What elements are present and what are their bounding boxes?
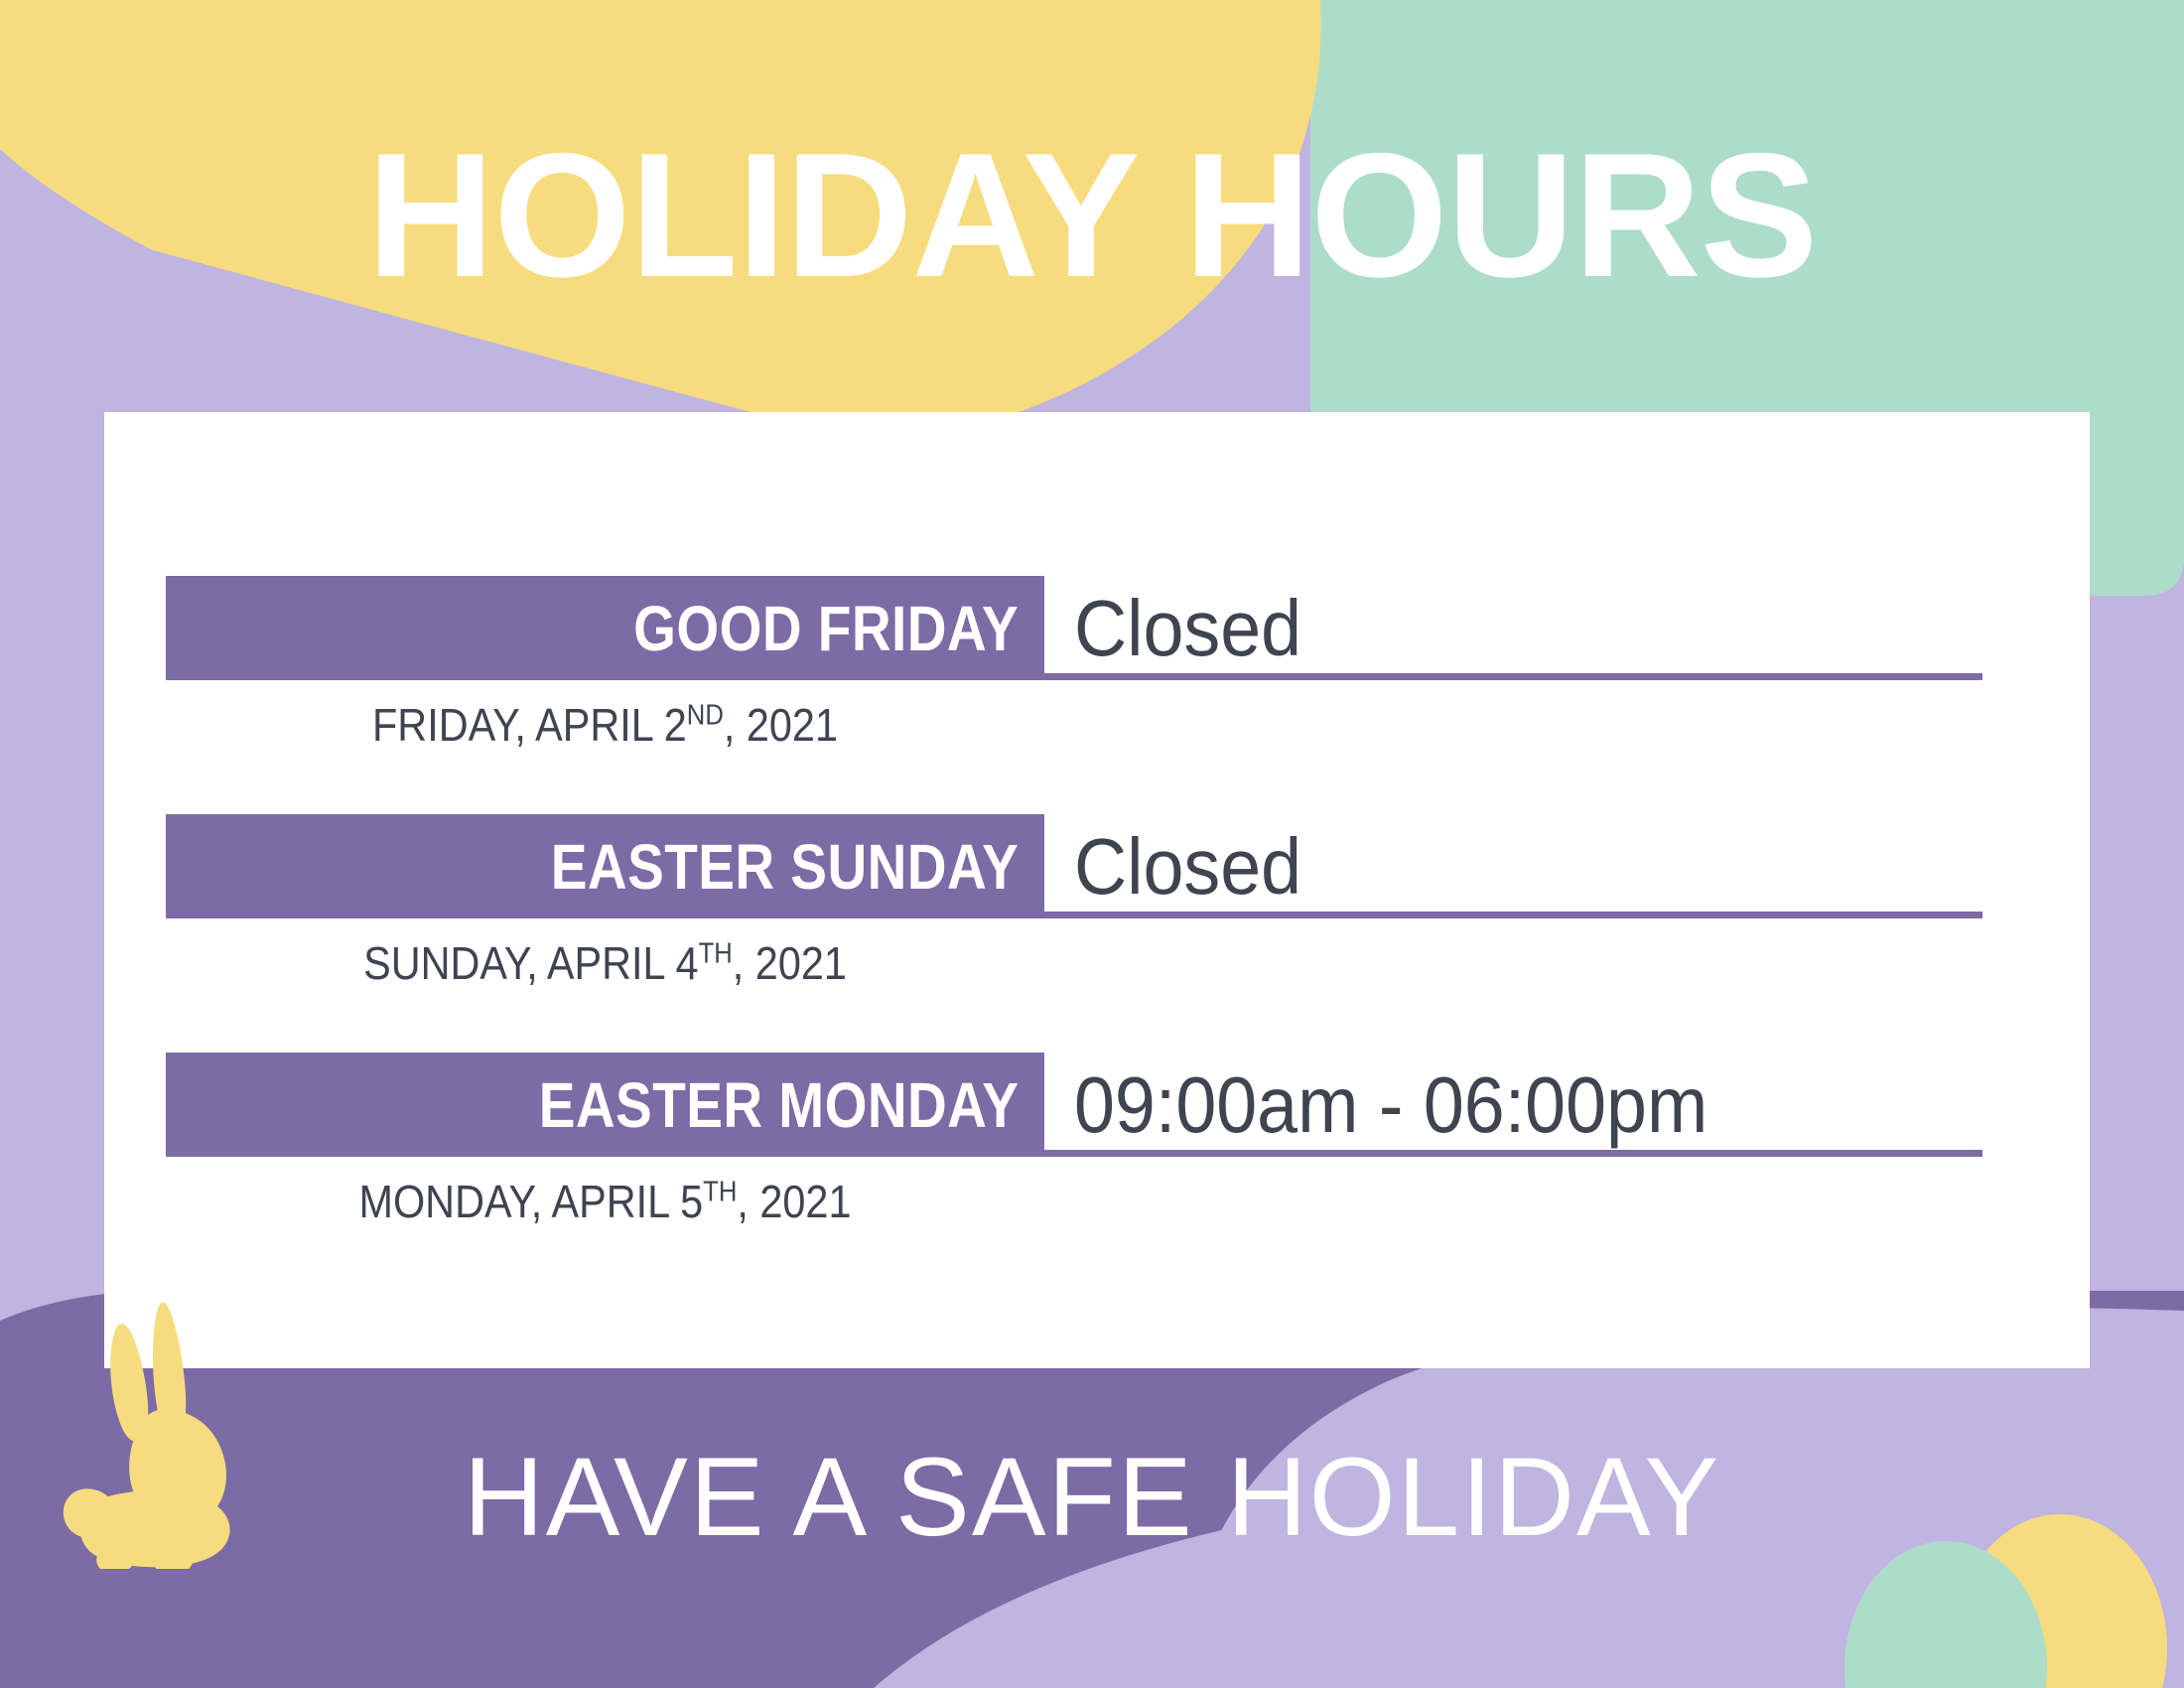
hours-underline bbox=[1044, 912, 1982, 918]
holiday-date-prefix: FRIDAY, APRIL 2 bbox=[372, 699, 687, 751]
holiday-date-label: FRIDAY, APRIL 2ND, 2021 bbox=[209, 702, 1001, 748]
holiday-hours-cell: Closed bbox=[1044, 814, 2032, 918]
schedule-card: GOOD FRIDAY Closed FRIDAY, APRIL 2ND, 20… bbox=[104, 412, 2090, 1368]
schedule-rows: GOOD FRIDAY Closed FRIDAY, APRIL 2ND, 20… bbox=[166, 576, 2032, 1291]
holiday-hours-value: Closed bbox=[1074, 589, 1301, 668]
hours-underline bbox=[1044, 673, 1982, 680]
table-row: GOOD FRIDAY Closed FRIDAY, APRIL 2ND, 20… bbox=[166, 576, 2032, 814]
hours-underline bbox=[1044, 1150, 1982, 1157]
table-row: EASTER MONDAY 09:00am - 06:00pm MONDAY, … bbox=[166, 1053, 2032, 1291]
schedule-row-main: GOOD FRIDAY Closed bbox=[166, 576, 2032, 680]
holiday-name-label: EASTER MONDAY bbox=[538, 1073, 1019, 1137]
holiday-hours-value: Closed bbox=[1074, 827, 1301, 907]
holiday-hours-poster: HOLIDAY HOURS GOOD FRIDAY Closed FRIDAY,… bbox=[0, 0, 2184, 1688]
holiday-name-badge: GOOD FRIDAY bbox=[166, 576, 1044, 680]
holiday-name-badge: EASTER MONDAY bbox=[166, 1053, 1044, 1157]
table-row: EASTER SUNDAY Closed SUNDAY, APRIL 4TH, … bbox=[166, 814, 2032, 1053]
holiday-hours-cell: 09:00am - 06:00pm bbox=[1044, 1053, 2032, 1157]
holiday-hours-value: 09:00am - 06:00pm bbox=[1074, 1065, 1707, 1145]
footer-message: HAVE A SAFE HOLIDAY bbox=[0, 1442, 2184, 1553]
holiday-date-year: , 2021 bbox=[733, 937, 847, 989]
holiday-date-ordinal: TH bbox=[699, 938, 733, 970]
holiday-date-ordinal: TH bbox=[703, 1177, 737, 1208]
holiday-date-label: MONDAY, APRIL 5TH, 2021 bbox=[209, 1179, 1001, 1224]
holiday-name-badge: EASTER SUNDAY bbox=[166, 814, 1044, 918]
holiday-name-label: EASTER SUNDAY bbox=[551, 835, 1019, 899]
holiday-name-label: GOOD FRIDAY bbox=[633, 597, 1019, 660]
schedule-row-main: EASTER SUNDAY Closed bbox=[166, 814, 2032, 918]
holiday-date-prefix: SUNDAY, APRIL 4 bbox=[363, 937, 699, 989]
holiday-hours-cell: Closed bbox=[1044, 576, 2032, 680]
holiday-date-prefix: MONDAY, APRIL 5 bbox=[358, 1176, 703, 1227]
page-title: HOLIDAY HOURS bbox=[0, 127, 2184, 304]
holiday-date-year: , 2021 bbox=[737, 1176, 851, 1227]
holiday-date-label: SUNDAY, APRIL 4TH, 2021 bbox=[209, 940, 1001, 986]
holiday-date-year: , 2021 bbox=[724, 699, 838, 751]
schedule-row-main: EASTER MONDAY 09:00am - 06:00pm bbox=[166, 1053, 2032, 1157]
holiday-date-ordinal: ND bbox=[687, 700, 724, 732]
